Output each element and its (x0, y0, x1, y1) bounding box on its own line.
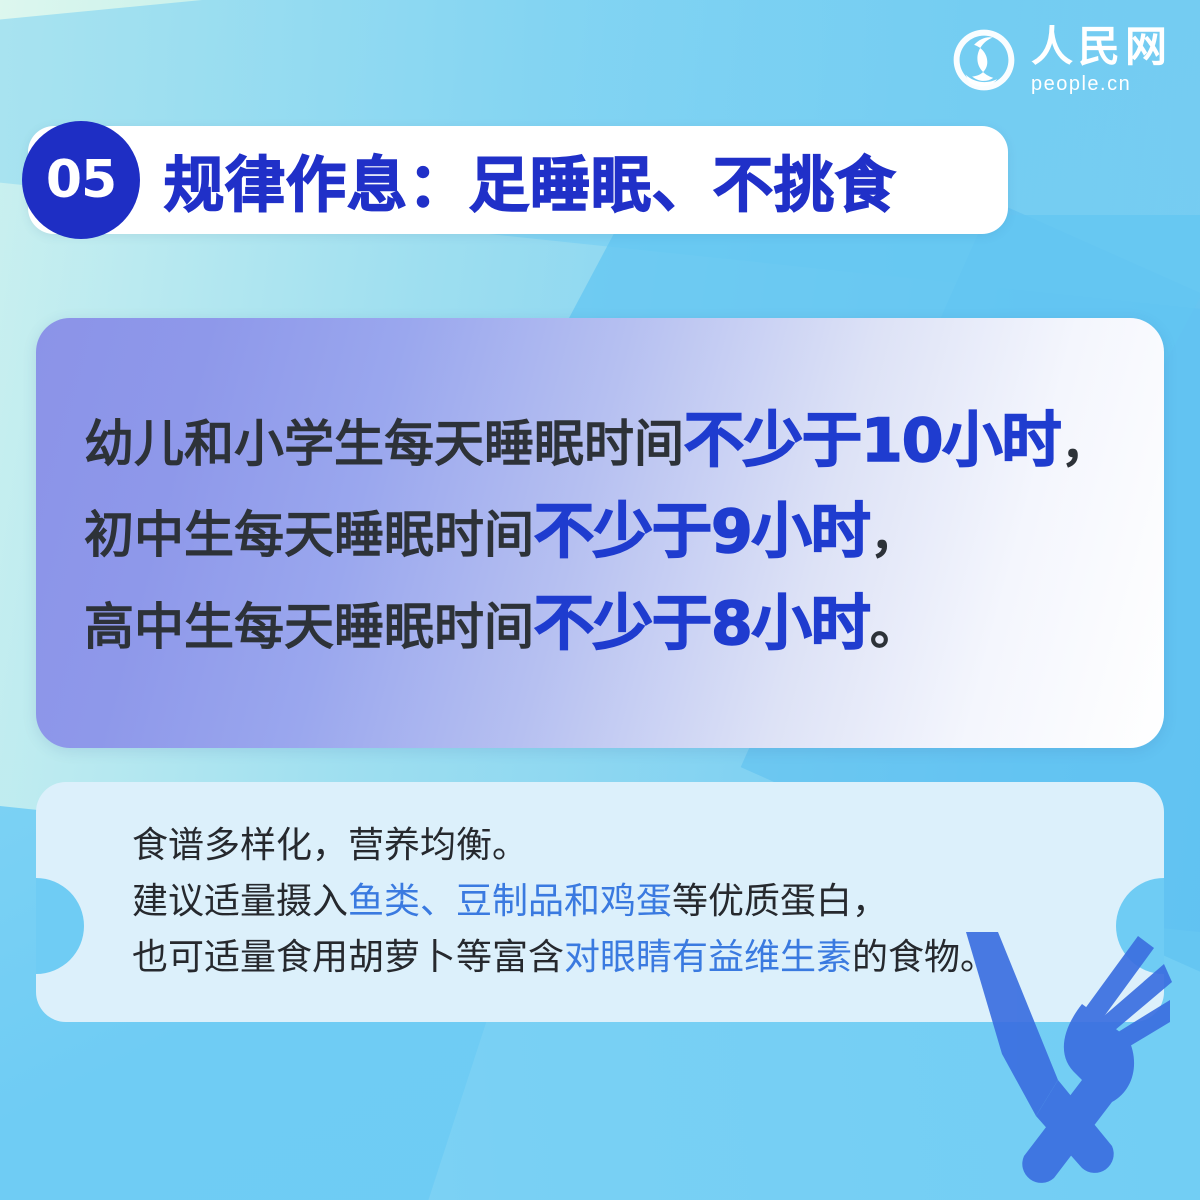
tip-line-3-prefix: 也可适量食用胡萝卜等富含 (132, 937, 564, 978)
logo-name-cn: 人民网 (1031, 26, 1172, 68)
poster-root: 人民网 people.cn 05 规律作息：足睡眠、不挑食 幼儿和小学生每天睡眠… (0, 0, 1200, 1200)
tip-line-3-suffix: 的食物。 (852, 937, 996, 978)
sleep-duration-card: 幼儿和小学生每天睡眠时间不少于10小时， 初中生每天睡眠时间不少于9小时， 高中… (36, 318, 1164, 748)
sleep-line-2-suffix: ， (870, 506, 920, 564)
sleep-line-2-prefix: 初中生每天睡眠时间 (84, 506, 534, 564)
tip-line-2: 建议适量摄入鱼类、豆制品和鸡蛋等优质蛋白， (132, 874, 1104, 930)
ticket-notch-left (36, 878, 84, 974)
sleep-line-2-highlight: 不少于9小时 (534, 497, 870, 567)
section-number-badge: 05 (22, 121, 140, 239)
sleep-line-3-suffix: 。 (870, 598, 920, 656)
tip-line-2-highlight: 鱼类、豆制品和鸡蛋 (348, 881, 672, 922)
sleep-line-3-prefix: 高中生每天睡眠时间 (84, 598, 534, 656)
logo-text: 人民网 people.cn (1031, 26, 1172, 94)
people-cn-logo: 人民网 people.cn (951, 26, 1172, 94)
sleep-line-1-suffix: ， (1061, 415, 1111, 473)
tip-line-1: 食谱多样化，营养均衡。 (132, 818, 1104, 874)
sleep-line-1-highlight: 不少于10小时 (684, 406, 1061, 476)
tip-line-2-suffix: 等优质蛋白， (672, 881, 888, 922)
nutrition-tip-text: 食谱多样化，营养均衡。 建议适量摄入鱼类、豆制品和鸡蛋等优质蛋白， 也可适量食用… (132, 818, 1104, 986)
sleep-line-2: 初中生每天睡眠时间不少于9小时， (84, 487, 1164, 578)
tip-line-2-prefix: 建议适量摄入 (132, 881, 348, 922)
tip-line-3-highlight: 对眼睛有益维生素 (564, 937, 852, 978)
people-cn-swirl-icon (951, 27, 1017, 93)
ticket-notch-right (1116, 878, 1164, 974)
sleep-line-3-highlight: 不少于8小时 (534, 589, 870, 659)
page-title: 规律作息：足睡眠、不挑食 (164, 137, 896, 224)
nutrition-tip-card: 食谱多样化，营养均衡。 建议适量摄入鱼类、豆制品和鸡蛋等优质蛋白， 也可适量食用… (36, 782, 1164, 1022)
sleep-line-3: 高中生每天睡眠时间不少于8小时。 (84, 579, 1164, 670)
section-title-bar: 05 规律作息：足睡眠、不挑食 (28, 126, 1008, 234)
logo-name-en: people.cn (1031, 74, 1131, 94)
sleep-line-1-prefix: 幼儿和小学生每天睡眠时间 (84, 415, 684, 473)
tip-line-3: 也可适量食用胡萝卜等富含对眼睛有益维生素的食物。 (132, 930, 1104, 986)
sleep-line-1: 幼儿和小学生每天睡眠时间不少于10小时， (84, 396, 1164, 487)
